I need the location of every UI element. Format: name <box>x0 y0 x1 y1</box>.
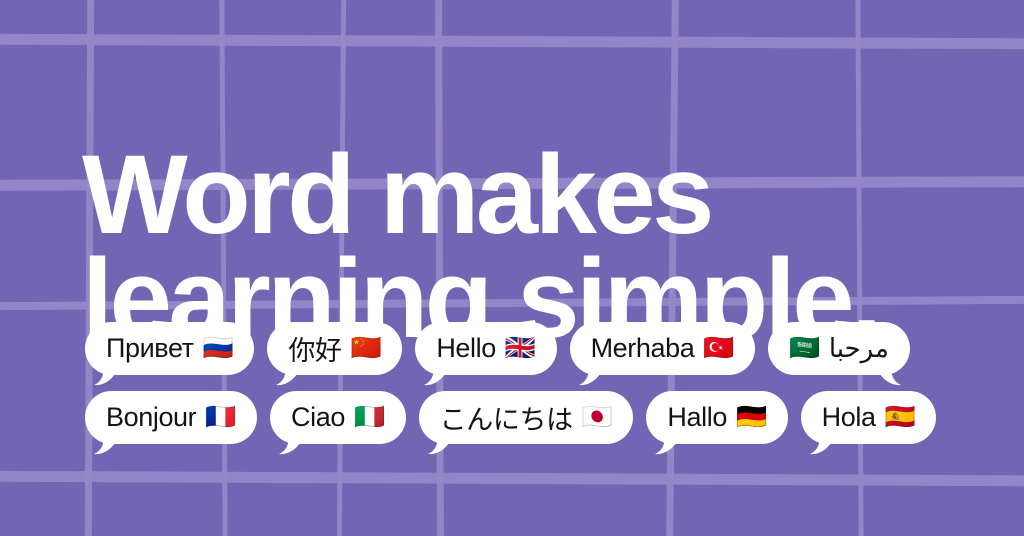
bubble-tail <box>94 431 118 451</box>
flag-china-icon: 🇨🇳 <box>351 336 382 361</box>
greeting-text: Hello <box>436 333 496 364</box>
greeting-text: مرحبا <box>829 334 889 364</box>
greeting-bubble-english[interactable]: Hello 🇬🇧 <box>415 322 556 375</box>
flag-russia-icon: 🇷🇺 <box>203 336 234 361</box>
flag-japan-icon: 🇯🇵 <box>582 405 613 430</box>
greeting-bubble-chinese[interactable]: 你好 🇨🇳 <box>267 322 402 375</box>
flag-spain-icon: 🇪🇸 <box>885 405 916 430</box>
bubble-tail <box>424 362 448 382</box>
greeting-bubble-arabic[interactable]: مرحبا 🇸🇦 <box>768 322 910 375</box>
flag-united-kingdom-icon: 🇬🇧 <box>505 336 536 361</box>
greeting-bubble-russian[interactable]: Привет 🇷🇺 <box>85 322 254 375</box>
greeting-bubble-german[interactable]: Hallo 🇩🇪 <box>646 391 787 444</box>
bubble-tail <box>655 431 679 451</box>
flag-france-icon: 🇫🇷 <box>205 405 236 430</box>
headline-text: Word makes learning simple. <box>82 143 922 351</box>
greeting-text: こんにちは <box>440 398 573 437</box>
greeting-row-1: Привет 🇷🇺 你好 🇨🇳 Hello 🇬🇧 <box>0 322 1024 375</box>
grid-line-horizontal <box>0 34 1024 50</box>
greeting-text: Merhaba <box>591 333 695 364</box>
grid-line-horizontal <box>0 471 1024 487</box>
flag-turkey-icon: 🇹🇷 <box>703 336 734 361</box>
greeting-row-2: Bonjour 🇫🇷 Ciao 🇮🇹 こんにちは 🇯🇵 <box>0 391 1024 444</box>
flag-germany-icon: 🇩🇪 <box>736 405 767 430</box>
bubble-tail <box>279 431 303 451</box>
bubble-tail <box>877 362 901 382</box>
greeting-text: Bonjour <box>106 402 196 433</box>
greeting-bubble-french[interactable]: Bonjour 🇫🇷 <box>85 391 257 444</box>
greeting-bubble-italian[interactable]: Ciao 🇮🇹 <box>270 391 406 444</box>
flag-italy-icon: 🇮🇹 <box>354 405 385 430</box>
promotional-banner: Word makes learning simple. Привет 🇷🇺 你好… <box>0 0 1024 536</box>
flag-saudi-arabia-icon: 🇸🇦 <box>789 336 820 361</box>
bubble-tail <box>810 431 834 451</box>
greeting-bubble-japanese[interactable]: こんにちは 🇯🇵 <box>419 391 634 444</box>
greeting-text: Hola <box>822 402 876 433</box>
bubble-tail <box>428 431 452 451</box>
bubble-tail <box>276 362 300 382</box>
bubble-tail <box>94 362 118 382</box>
greeting-bubble-spanish[interactable]: Hola 🇪🇸 <box>801 391 937 444</box>
greeting-bubble-turkish[interactable]: Merhaba 🇹🇷 <box>570 322 756 375</box>
greeting-text: Hallo <box>667 402 727 433</box>
greeting-bubbles: Привет 🇷🇺 你好 🇨🇳 Hello 🇬🇧 <box>0 322 1024 460</box>
greeting-text: Привет <box>106 333 194 364</box>
bubble-tail <box>579 362 603 382</box>
greeting-text: Ciao <box>291 402 345 433</box>
